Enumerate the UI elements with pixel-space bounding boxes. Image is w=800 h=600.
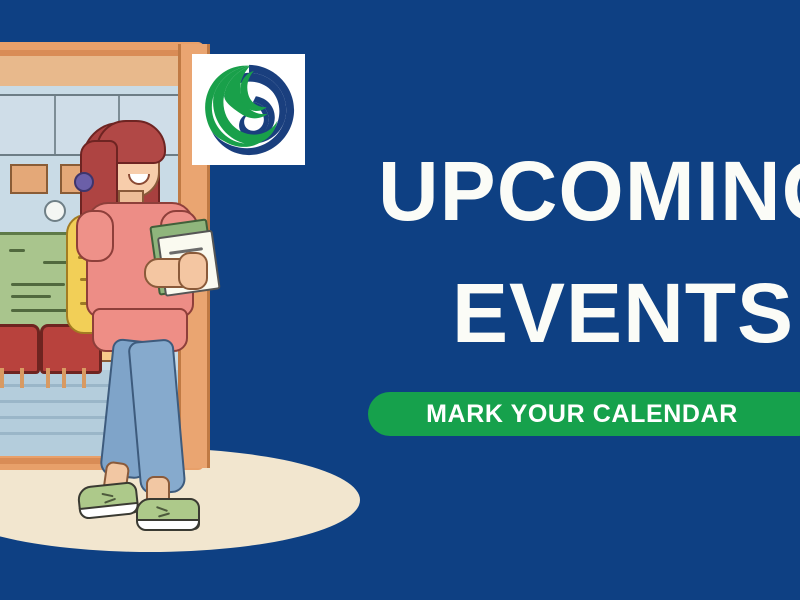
student-figure [60, 118, 220, 528]
mark-your-calendar-button[interactable]: MARK YOUR CALENDAR [368, 392, 800, 436]
headline-line-1: UPCOMING [378, 150, 800, 232]
student-illustration [0, 0, 360, 600]
koru-spiral-logo [192, 54, 305, 165]
cta-label: MARK YOUR CALENDAR [426, 400, 738, 429]
event-banner: UPCOMING EVENTS MARK YOUR CALENDAR [0, 0, 800, 600]
shoe-front [136, 498, 200, 530]
shoe-back [76, 481, 139, 519]
hair-tie [74, 172, 94, 192]
hand [178, 252, 208, 290]
headline-line-2: EVENTS [452, 272, 794, 354]
koru-spiral-icon [199, 61, 299, 159]
sleeve-left [76, 210, 114, 262]
